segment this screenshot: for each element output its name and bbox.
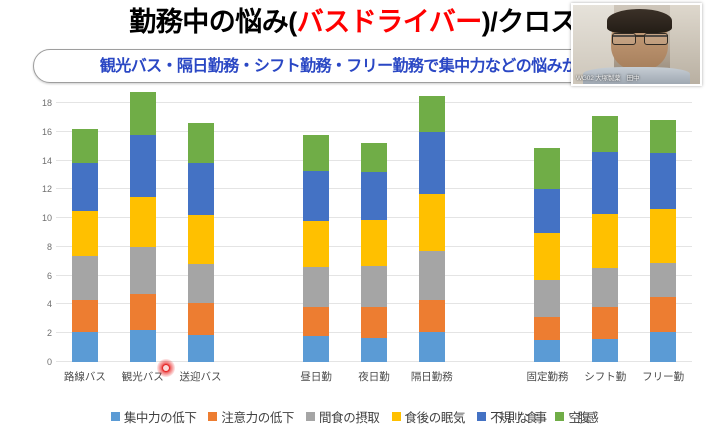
legend-swatch-icon xyxy=(555,412,564,421)
bar-segment xyxy=(72,163,98,210)
bar-segment xyxy=(534,148,560,190)
bar-segment xyxy=(534,340,560,362)
bar-segment xyxy=(188,335,214,362)
bar-segment xyxy=(592,339,618,362)
bar-segment xyxy=(361,172,387,219)
legend-swatch-icon xyxy=(306,412,315,421)
bar-segment xyxy=(303,135,329,171)
x-axis-label: フリー勤 xyxy=(628,369,698,384)
bar-segment xyxy=(361,307,387,337)
bar-segment xyxy=(361,338,387,362)
legend-item[interactable]: 間食の摂取 xyxy=(306,407,380,426)
bar-segment xyxy=(419,96,445,132)
y-axis-tick: 0 xyxy=(10,357,52,367)
legend-swatch-icon xyxy=(111,412,120,421)
legend-item[interactable]: 不規則な食事 xyxy=(477,407,543,426)
bar-segment xyxy=(188,123,214,163)
bar-シフト勤[interactable] xyxy=(592,116,618,362)
legend-label: 集中力の低下 xyxy=(124,407,197,426)
bar-隔日勤務[interactable] xyxy=(419,96,445,362)
bar-segment xyxy=(72,332,98,362)
x-axis-label: 隔日勤務 xyxy=(397,369,467,384)
bar-segment xyxy=(72,300,98,332)
legend-label: 不規則な食事 xyxy=(490,407,543,426)
bar-segment xyxy=(419,251,445,300)
y-axis-tick: 12 xyxy=(10,184,52,194)
slide-canvas: 勤務中の悩み(バスドライバー)/クロス 観光バス・隔日勤務・シフト勤務・フリー勤… xyxy=(0,0,706,429)
bar-segment xyxy=(592,214,618,269)
video-thumbnail[interactable]: WG02 大塚製薬 田中 xyxy=(571,3,702,86)
bar-フリー勤[interactable] xyxy=(650,120,676,362)
plot-area xyxy=(56,103,692,362)
bar-segment xyxy=(361,220,387,266)
bar-segment xyxy=(650,297,676,332)
bar-路線バス[interactable] xyxy=(72,129,98,362)
legend-item[interactable]: 食後の眠気 xyxy=(392,407,466,426)
bar-segment xyxy=(361,143,387,172)
x-axis-label: 送迎バス xyxy=(166,369,236,384)
bar-segment xyxy=(534,189,560,232)
bar-segment xyxy=(188,163,214,215)
bar-segment xyxy=(361,266,387,308)
bar-segment xyxy=(534,280,560,317)
y-axis-tick: 18 xyxy=(10,98,52,108)
bar-segment xyxy=(650,209,676,262)
bar-segment xyxy=(419,194,445,252)
bar-segment xyxy=(130,247,156,294)
bar-segment xyxy=(592,268,618,307)
bar-segment xyxy=(303,336,329,362)
y-axis-tick: 14 xyxy=(10,156,52,166)
y-axis-tick: 16 xyxy=(10,127,52,137)
bar-segment xyxy=(188,303,214,335)
title-prefix: 勤務中の悩み( xyxy=(129,7,297,37)
y-axis: 024681012141618 xyxy=(8,103,52,362)
legend-item[interactable]: 空腹感 xyxy=(555,407,595,426)
glasses-lens-left-icon xyxy=(612,33,636,44)
legend-label: 食後の眠気 xyxy=(405,407,466,426)
y-axis-tick: 4 xyxy=(10,299,52,309)
bar-segment xyxy=(419,300,445,332)
bar-segment xyxy=(303,307,329,336)
x-axis-labels: 路線バス観光バス送迎バス昼日勤夜日勤隔日勤務固定勤務シフト勤フリー勤 xyxy=(56,363,692,385)
bar-segment xyxy=(534,233,560,280)
legend-item[interactable]: 注意力の低下 xyxy=(208,407,294,426)
bar-segment xyxy=(72,211,98,256)
stacked-bar-chart: 024681012141618 路線バス観光バス送迎バス昼日勤夜日勤隔日勤務固定… xyxy=(8,95,698,385)
y-axis-tick: 8 xyxy=(10,242,52,252)
bar-segment xyxy=(303,171,329,221)
title-suffix: )/クロス xyxy=(482,7,577,37)
bar-送迎バス[interactable] xyxy=(188,123,214,362)
bar-夜日勤[interactable] xyxy=(361,143,387,362)
legend-label: 注意力の低下 xyxy=(221,407,294,426)
bar-segment xyxy=(188,215,214,264)
bar-segment xyxy=(303,221,329,267)
bar-segment xyxy=(534,317,560,340)
bar-segment xyxy=(650,332,676,362)
glasses-lens-right-icon xyxy=(644,33,668,44)
bar-segment xyxy=(188,264,214,303)
bar-固定勤務[interactable] xyxy=(534,148,560,362)
legend-swatch-icon xyxy=(392,412,401,421)
y-axis-tick: 2 xyxy=(10,328,52,338)
legend-swatch-icon xyxy=(208,412,217,421)
bar-segment xyxy=(650,120,676,153)
legend-label: 間食の摂取 xyxy=(319,407,380,426)
bar-segment xyxy=(130,330,156,362)
bar-segment xyxy=(130,197,156,247)
click-indicator xyxy=(157,359,175,377)
bar-segment xyxy=(419,332,445,362)
y-axis-tick: 6 xyxy=(10,271,52,281)
bar-segment xyxy=(592,116,618,152)
participant-hair xyxy=(607,9,672,33)
bar-segment xyxy=(130,294,156,330)
bar-昼日勤[interactable] xyxy=(303,135,329,362)
bar-segment xyxy=(303,267,329,307)
legend-label: 空腹感 xyxy=(568,407,595,426)
bar-segment xyxy=(592,152,618,214)
bar-観光バス[interactable] xyxy=(130,92,156,363)
legend-item[interactable]: 集中力の低下 xyxy=(111,407,197,426)
bar-segment xyxy=(72,256,98,301)
participant-nameplate: WG02 大塚製薬 田中 xyxy=(576,72,639,82)
bar-segment xyxy=(72,129,98,164)
bar-segment xyxy=(592,307,618,339)
bar-segment xyxy=(130,135,156,197)
chart-legend: 集中力の低下注意力の低下間食の摂取食後の眠気不規則な食事空腹感 xyxy=(0,405,706,427)
bar-segment xyxy=(419,132,445,194)
bar-segment xyxy=(130,92,156,135)
y-axis-tick: 10 xyxy=(10,213,52,223)
title-accent: バスドライバー xyxy=(297,7,482,37)
bar-segment xyxy=(650,153,676,209)
legend-swatch-icon xyxy=(477,412,486,421)
bar-segment xyxy=(650,263,676,298)
